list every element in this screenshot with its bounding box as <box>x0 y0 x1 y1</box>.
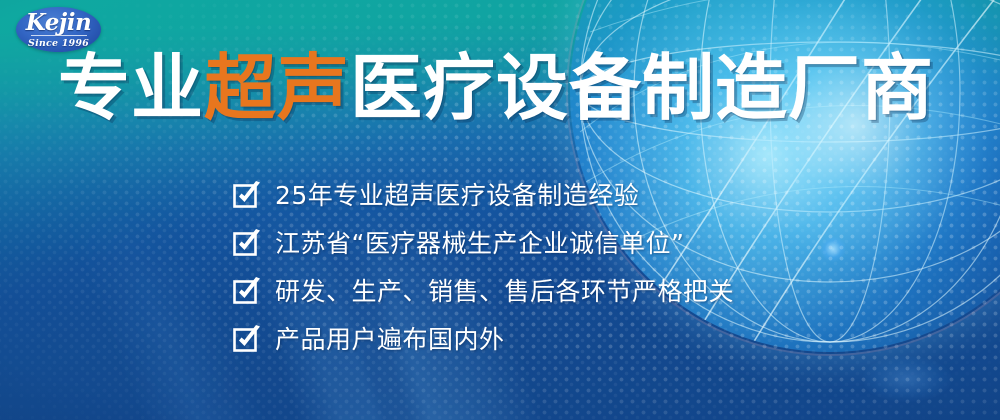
feature-list: 25年专业超声医疗设备制造经验 江苏省“医疗器械生产企业诚信单位” 研发、生产、… <box>232 178 734 356</box>
checkbox-check-icon <box>232 324 262 354</box>
lens-flare-wide <box>862 356 952 402</box>
list-item: 研发、生产、销售、售后各环节严格把关 <box>232 274 734 308</box>
lens-flare-small <box>820 236 846 262</box>
list-item-label: 研发、生产、销售、售后各环节严格把关 <box>275 279 734 304</box>
headline: 专业 超声 医疗设备制造厂商 <box>58 52 934 124</box>
promo-banner: Kejin Since 1996 专业 超声 医疗设备制造厂商 25年专业超声医… <box>0 0 1000 420</box>
list-item-label: 产品用户遍布国内外 <box>275 327 505 352</box>
list-item: 江苏省“医疗器械生产企业诚信单位” <box>232 226 734 260</box>
headline-segment-accent: 超声 <box>204 52 350 124</box>
checkbox-check-icon <box>232 228 262 258</box>
headline-segment-1: 专业 <box>58 52 204 124</box>
checkbox-check-icon <box>232 180 262 210</box>
logo-divider <box>31 35 87 36</box>
list-item-label: 25年专业超声医疗设备制造经验 <box>275 183 639 208</box>
list-item: 产品用户遍布国内外 <box>232 322 734 356</box>
checkbox-check-icon <box>232 276 262 306</box>
list-item-label: 江苏省“医疗器械生产企业诚信单位” <box>275 231 684 256</box>
brand-name: Kejin <box>26 11 91 34</box>
headline-segment-3: 医疗设备制造厂商 <box>350 52 934 124</box>
list-item: 25年专业超声医疗设备制造经验 <box>232 178 734 212</box>
